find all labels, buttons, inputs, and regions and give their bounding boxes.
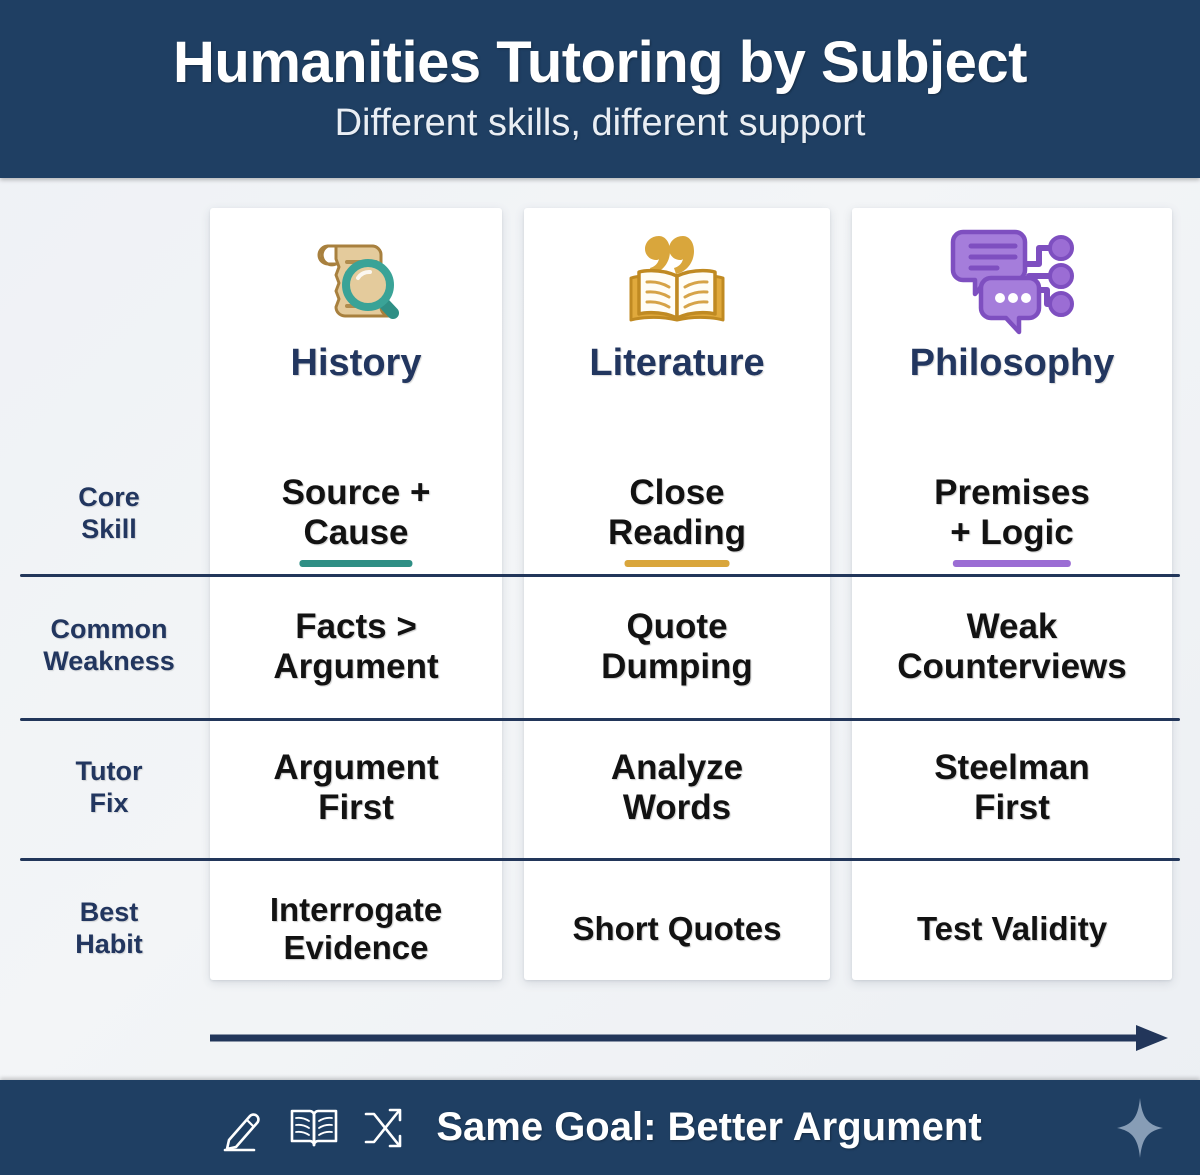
row-label-line: Core [78, 482, 140, 514]
cell-line: Test Validity [917, 910, 1107, 948]
infographic-page: Humanities Tutoring by Subject Different… [0, 0, 1200, 1175]
cell-line: Dumping [601, 647, 753, 687]
cell-line: Argument [273, 748, 438, 788]
cell-line: Facts > [273, 607, 438, 647]
cell-tutor-fix-philosophy: Steelman First [852, 718, 1172, 858]
row-label-core-skill: Core Skill [14, 454, 204, 574]
accent-underline-history [299, 560, 412, 567]
cell-line: Argument [273, 647, 438, 687]
column-title: History [291, 344, 422, 382]
cell-core-skill-philosophy: Premises + Logic [852, 450, 1172, 576]
footer-tagline: Same Goal: Better Argument [436, 1105, 981, 1150]
page-title: Humanities Tutoring by Subject [173, 33, 1027, 92]
pen-writing-icon [218, 1102, 270, 1154]
cell-best-habit-philosophy: Test Validity [852, 858, 1172, 1000]
cell-line: + Logic [934, 513, 1090, 553]
cell-common-weakness-philosophy: Weak Counterviews [852, 576, 1172, 718]
row-label-line: Common [43, 614, 175, 646]
cell-line: Premises [934, 473, 1090, 513]
shuffle-arrows-icon [358, 1102, 410, 1154]
accent-underline-philosophy [953, 560, 1071, 567]
cell-line: Interrogate [270, 891, 442, 929]
row-label-tutor-fix: Tutor Fix [14, 718, 204, 858]
cell-line: Source + [282, 473, 431, 513]
page-header: Humanities Tutoring by Subject Different… [0, 0, 1200, 178]
cell-core-skill-history: Source + Cause [210, 450, 502, 576]
cell-line: First [273, 788, 438, 828]
cell-common-weakness-literature: Quote Dumping [524, 576, 830, 718]
matrix-grid: History [0, 178, 1200, 1080]
row-label-common-weakness: Common Weakness [14, 574, 204, 718]
cell-line: Counterviews [897, 647, 1127, 687]
row-label-line: Skill [78, 514, 140, 546]
cell-tutor-fix-history: Argument First [210, 718, 502, 858]
page-subtitle: Different skills, different support [335, 102, 866, 145]
row-label-line: Tutor [76, 756, 143, 788]
row-label-line: Fix [76, 788, 143, 820]
page-footer: Same Goal: Better Argument [0, 1080, 1200, 1175]
column-title: Literature [589, 344, 764, 382]
cell-core-skill-literature: Close Reading [524, 450, 830, 576]
accent-underline-literature [625, 560, 730, 567]
cell-line: Weak [897, 607, 1127, 647]
open-book-quote-icon [615, 212, 739, 344]
cell-tutor-fix-literature: Analyze Words [524, 718, 830, 858]
cell-line: Analyze [611, 748, 743, 788]
speech-bubbles-network-icon [945, 212, 1079, 344]
cell-line: Reading [608, 513, 746, 553]
four-point-star-icon [1116, 1098, 1164, 1158]
row-label-best-habit: Best Habit [14, 858, 204, 1000]
cell-line: Quote [601, 607, 753, 647]
cell-common-weakness-history: Facts > Argument [210, 576, 502, 718]
cell-best-habit-literature: Short Quotes [524, 858, 830, 1000]
cell-line: First [934, 788, 1090, 828]
column-header-history: History [210, 212, 502, 402]
row-label-line: Habit [75, 929, 143, 961]
row-label-line: Weakness [43, 646, 175, 678]
cell-line: Evidence [270, 929, 442, 967]
cell-line: Words [611, 788, 743, 828]
cell-line: Cause [282, 513, 431, 553]
rightward-progress-arrow [208, 1023, 1170, 1053]
column-title: Philosophy [910, 344, 1115, 382]
column-header-philosophy: Philosophy [852, 212, 1172, 402]
cell-line: Steelman [934, 748, 1090, 788]
scroll-magnifier-icon [294, 212, 418, 344]
cell-best-habit-history: Interrogate Evidence [210, 858, 502, 1000]
column-header-literature: Literature [524, 212, 830, 402]
cell-line: Close [608, 473, 746, 513]
open-book-icon [288, 1102, 340, 1154]
comparison-matrix: History [0, 178, 1200, 1080]
row-label-line: Best [75, 897, 143, 929]
cell-line: Short Quotes [572, 910, 781, 948]
footer-content: Same Goal: Better Argument [218, 1102, 981, 1154]
